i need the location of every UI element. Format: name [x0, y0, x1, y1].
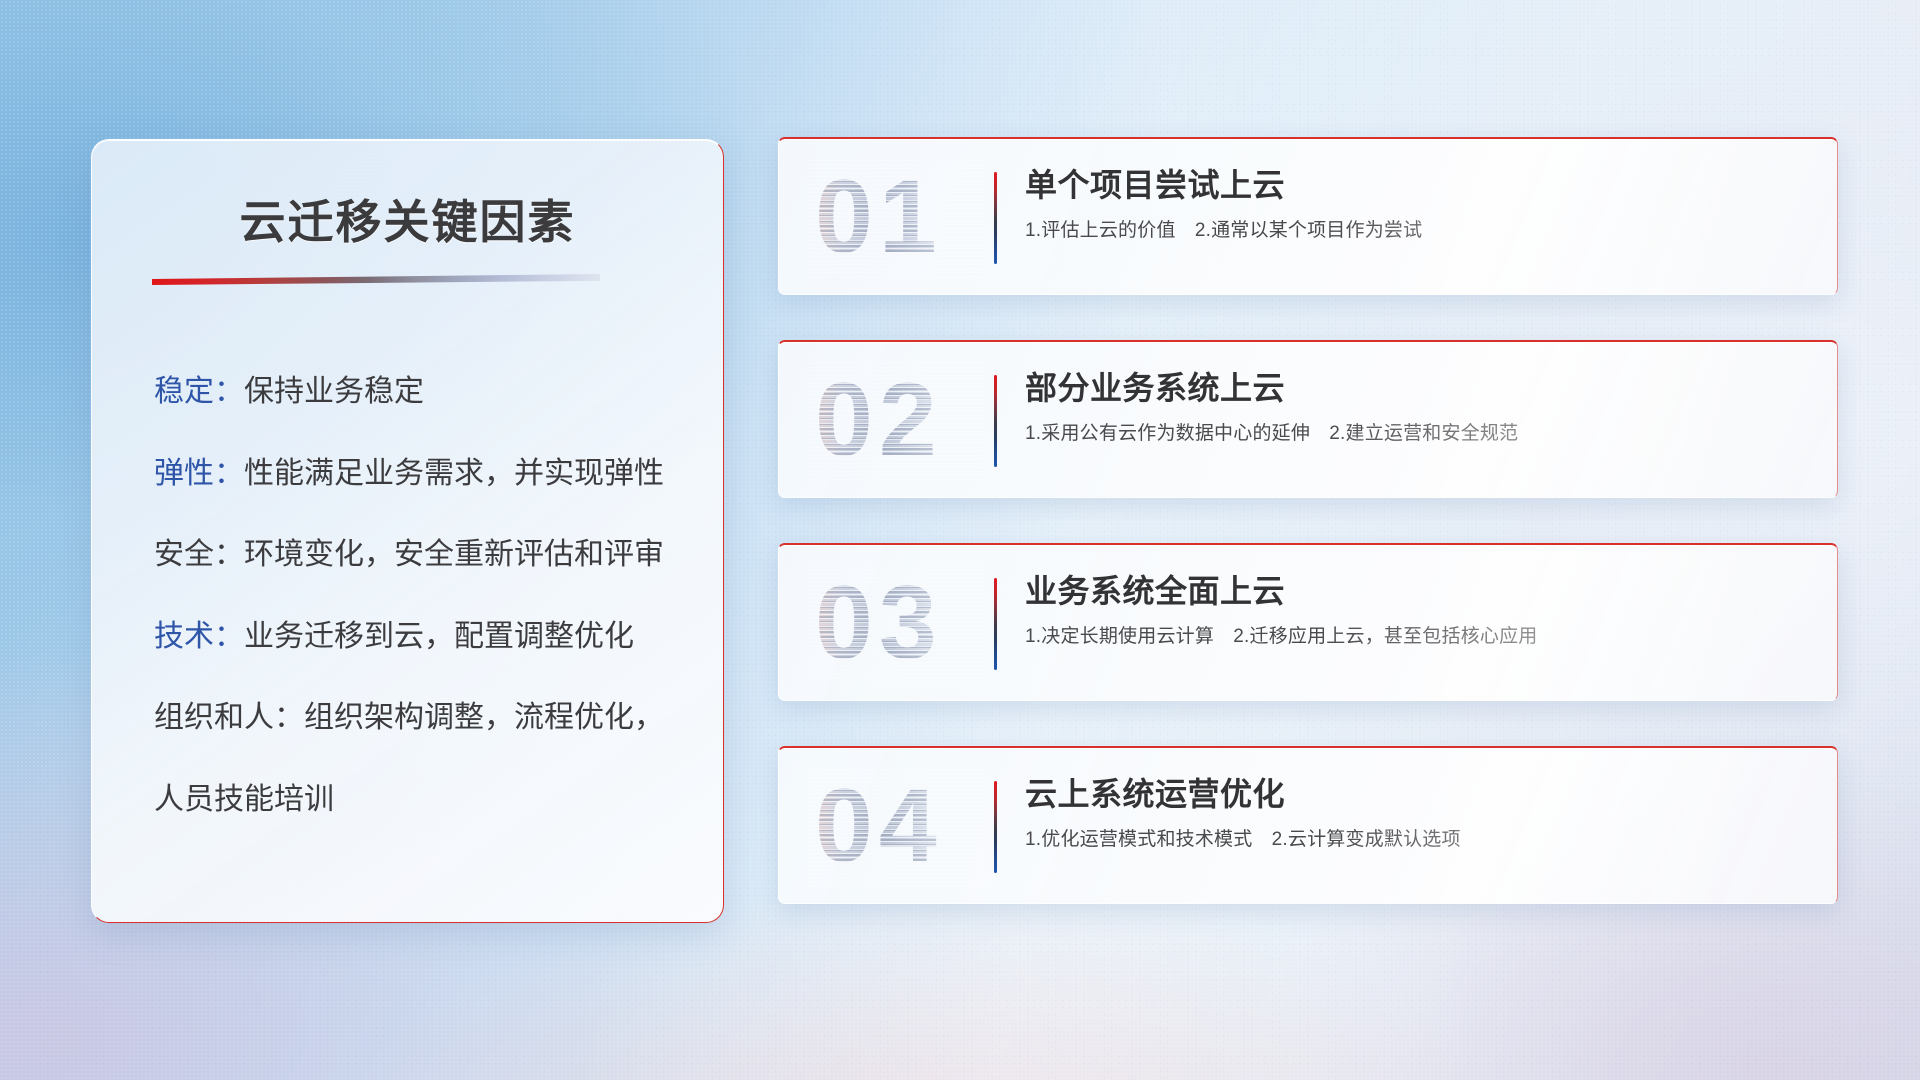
list-item-text: 业务迁移到云，配置调整优化 — [244, 620, 634, 653]
step-number: 03 — [815, 571, 943, 675]
step-divider-bar — [994, 172, 997, 264]
title-underline-accent — [152, 274, 600, 285]
step-number: 01 — [815, 165, 943, 269]
step-title: 业务系统全面上云 — [1025, 571, 1797, 612]
step-card[interactable]: 01 单个项目尝试上云 1.评估上云的价值 2.通常以某个项目作为尝试 — [778, 137, 1838, 295]
list-item-label: 安全： — [154, 538, 244, 571]
list-item-text: 性能满足业务需求，并实现弹性 — [244, 457, 664, 490]
key-factors-panel: 云迁移关键因素 稳定：保持业务稳定 弹性：性能满足业务需求，并实现弹性 安全：环… — [91, 139, 724, 923]
step-card[interactable]: 04 云上系统运营优化 1.优化运营模式和技术模式 2.云计算变成默认选项 — [778, 746, 1838, 904]
step-body: 部分业务系统上云 1.采用公有云作为数据中心的延伸 2.建立运营和安全规范 — [1025, 368, 1797, 448]
step-card[interactable]: 02 部分业务系统上云 1.采用公有云作为数据中心的延伸 2.建立运营和安全规范 — [778, 340, 1838, 498]
list-item-label: 弹性： — [154, 457, 244, 490]
step-card[interactable]: 03 业务系统全面上云 1.决定长期使用云计算 2.迁移应用上云，甚至包括核心应… — [778, 543, 1838, 701]
step-title: 部分业务系统上云 — [1025, 368, 1797, 409]
list-item-text: 保持业务稳定 — [244, 375, 424, 408]
page-title: 云迁移关键因素 — [92, 186, 723, 252]
list-item-label: 技术： — [154, 620, 244, 653]
list-item: 技术：业务迁移到云，配置调整优化 — [154, 617, 689, 657]
step-number: 04 — [815, 774, 943, 878]
list-item-text: 组织架构调整，流程优化， — [304, 701, 664, 734]
slide-stage: 云迁移关键因素 稳定：保持业务稳定 弹性：性能满足业务需求，并实现弹性 安全：环… — [0, 0, 1920, 1080]
list-item: 弹性：性能满足业务需求，并实现弹性 — [154, 454, 689, 494]
list-item-label: 组织和人： — [154, 701, 304, 734]
list-item-text: 环境变化，安全重新评估和评审 — [244, 538, 664, 571]
step-subtitle: 1.采用公有云作为数据中心的延伸 2.建立运营和安全规范 — [1025, 421, 1797, 448]
step-subtitle: 1.优化运营模式和技术模式 2.云计算变成默认选项 — [1025, 827, 1797, 854]
step-title: 云上系统运营优化 — [1025, 774, 1797, 815]
step-body: 单个项目尝试上云 1.评估上云的价值 2.通常以某个项目作为尝试 — [1025, 165, 1797, 245]
list-item-label: 稳定： — [154, 375, 244, 408]
step-number: 02 — [815, 368, 943, 472]
list-item-continuation: 人员技能培训 — [154, 780, 689, 820]
step-subtitle: 1.决定长期使用云计算 2.迁移应用上云，甚至包括核心应用 — [1025, 624, 1797, 651]
step-subtitle: 1.评估上云的价值 2.通常以某个项目作为尝试 — [1025, 218, 1797, 245]
step-body: 云上系统运营优化 1.优化运营模式和技术模式 2.云计算变成默认选项 — [1025, 774, 1797, 854]
step-title: 单个项目尝试上云 — [1025, 165, 1797, 206]
key-factors-list: 稳定：保持业务稳定 弹性：性能满足业务需求，并实现弹性 安全：环境变化，安全重新… — [154, 372, 689, 820]
list-item: 稳定：保持业务稳定 — [154, 372, 689, 412]
step-divider-bar — [994, 781, 997, 873]
list-item: 安全：环境变化，安全重新评估和评审 — [154, 535, 689, 575]
migration-steps-list: 01 单个项目尝试上云 1.评估上云的价值 2.通常以某个项目作为尝试 02 部… — [778, 137, 1838, 949]
step-divider-bar — [994, 375, 997, 467]
list-item: 组织和人：组织架构调整，流程优化， — [154, 698, 689, 738]
step-divider-bar — [994, 578, 997, 670]
step-body: 业务系统全面上云 1.决定长期使用云计算 2.迁移应用上云，甚至包括核心应用 — [1025, 571, 1797, 651]
